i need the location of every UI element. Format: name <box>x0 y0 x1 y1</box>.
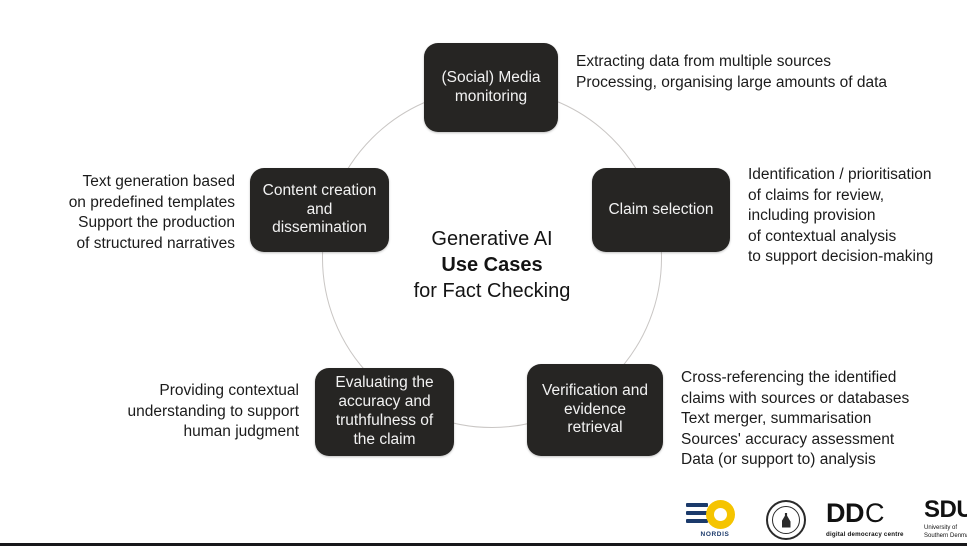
nordis-mark-icon <box>686 500 744 530</box>
description-claim-selection: Identification / prioritisationof claims… <box>748 165 933 268</box>
node-claim-selection-label: Claim selection <box>608 201 713 220</box>
node-claim-selection[interactable]: Claim selection <box>592 168 730 252</box>
node-content-creation[interactable]: Content creationanddissemination <box>250 168 389 252</box>
university-seal-logo <box>766 500 808 542</box>
description-content-creation: Text generation basedon predefined templ… <box>69 172 235 254</box>
node-evaluating-accuracy[interactable]: Evaluating theaccuracy andtruthfulness o… <box>315 368 454 456</box>
nordis-circle-icon <box>706 500 735 529</box>
university-seal-icon <box>766 500 806 540</box>
sdu-tagline: University ofSouthern Denmark <box>924 525 967 540</box>
ddc-wordmark-bold: DD <box>826 500 864 527</box>
ddc-wordmark-light: C <box>865 500 885 527</box>
node-media-monitoring-label: (Social) Mediamonitoring <box>441 69 540 107</box>
ddc-logo: DD C digital democracy centre <box>826 500 906 542</box>
center-caption-line3: for Fact Checking <box>382 278 602 304</box>
logo-strip: NORDIS DD C digital democracy centre SDU <box>686 498 967 542</box>
sdu-wordmark-row: SDU <box>924 498 967 522</box>
node-content-creation-label: Content creationanddissemination <box>263 182 377 239</box>
center-caption: Generative AI Use Cases for Fact Checkin… <box>382 226 602 304</box>
node-verification-label: Verification andevidenceretrieval <box>542 382 648 439</box>
node-media-monitoring[interactable]: (Social) Mediamonitoring <box>424 43 558 132</box>
node-evaluating-label: Evaluating theaccuracy andtruthfulness o… <box>335 374 433 450</box>
nordis-wordmark: NORDIS <box>686 531 744 538</box>
nordis-logo: NORDIS <box>686 500 748 542</box>
sdu-logo: SDU University ofSouthern Denmark <box>924 498 967 542</box>
sdu-wordmark: SDU <box>924 498 967 522</box>
center-caption-line1: Generative AI <box>382 226 602 252</box>
ddc-tagline: digital democracy centre <box>826 531 906 538</box>
node-verification-evidence-retrieval[interactable]: Verification andevidenceretrieval <box>527 364 663 456</box>
university-seal-inner-icon <box>772 506 800 534</box>
slide-canvas: (Social) Mediamonitoring Claim selection… <box>0 0 967 546</box>
university-seal-glyph-icon <box>782 513 791 528</box>
center-caption-line2: Use Cases <box>382 252 602 278</box>
ddc-wordmark-row: DD C <box>826 500 906 527</box>
nordis-bars-icon <box>686 503 708 527</box>
description-verification: Cross-referencing the identifiedclaims w… <box>681 368 909 471</box>
description-media-monitoring: Extracting data from multiple sourcesPro… <box>576 52 887 93</box>
description-evaluating: Providing contextualunderstanding to sup… <box>128 381 299 443</box>
